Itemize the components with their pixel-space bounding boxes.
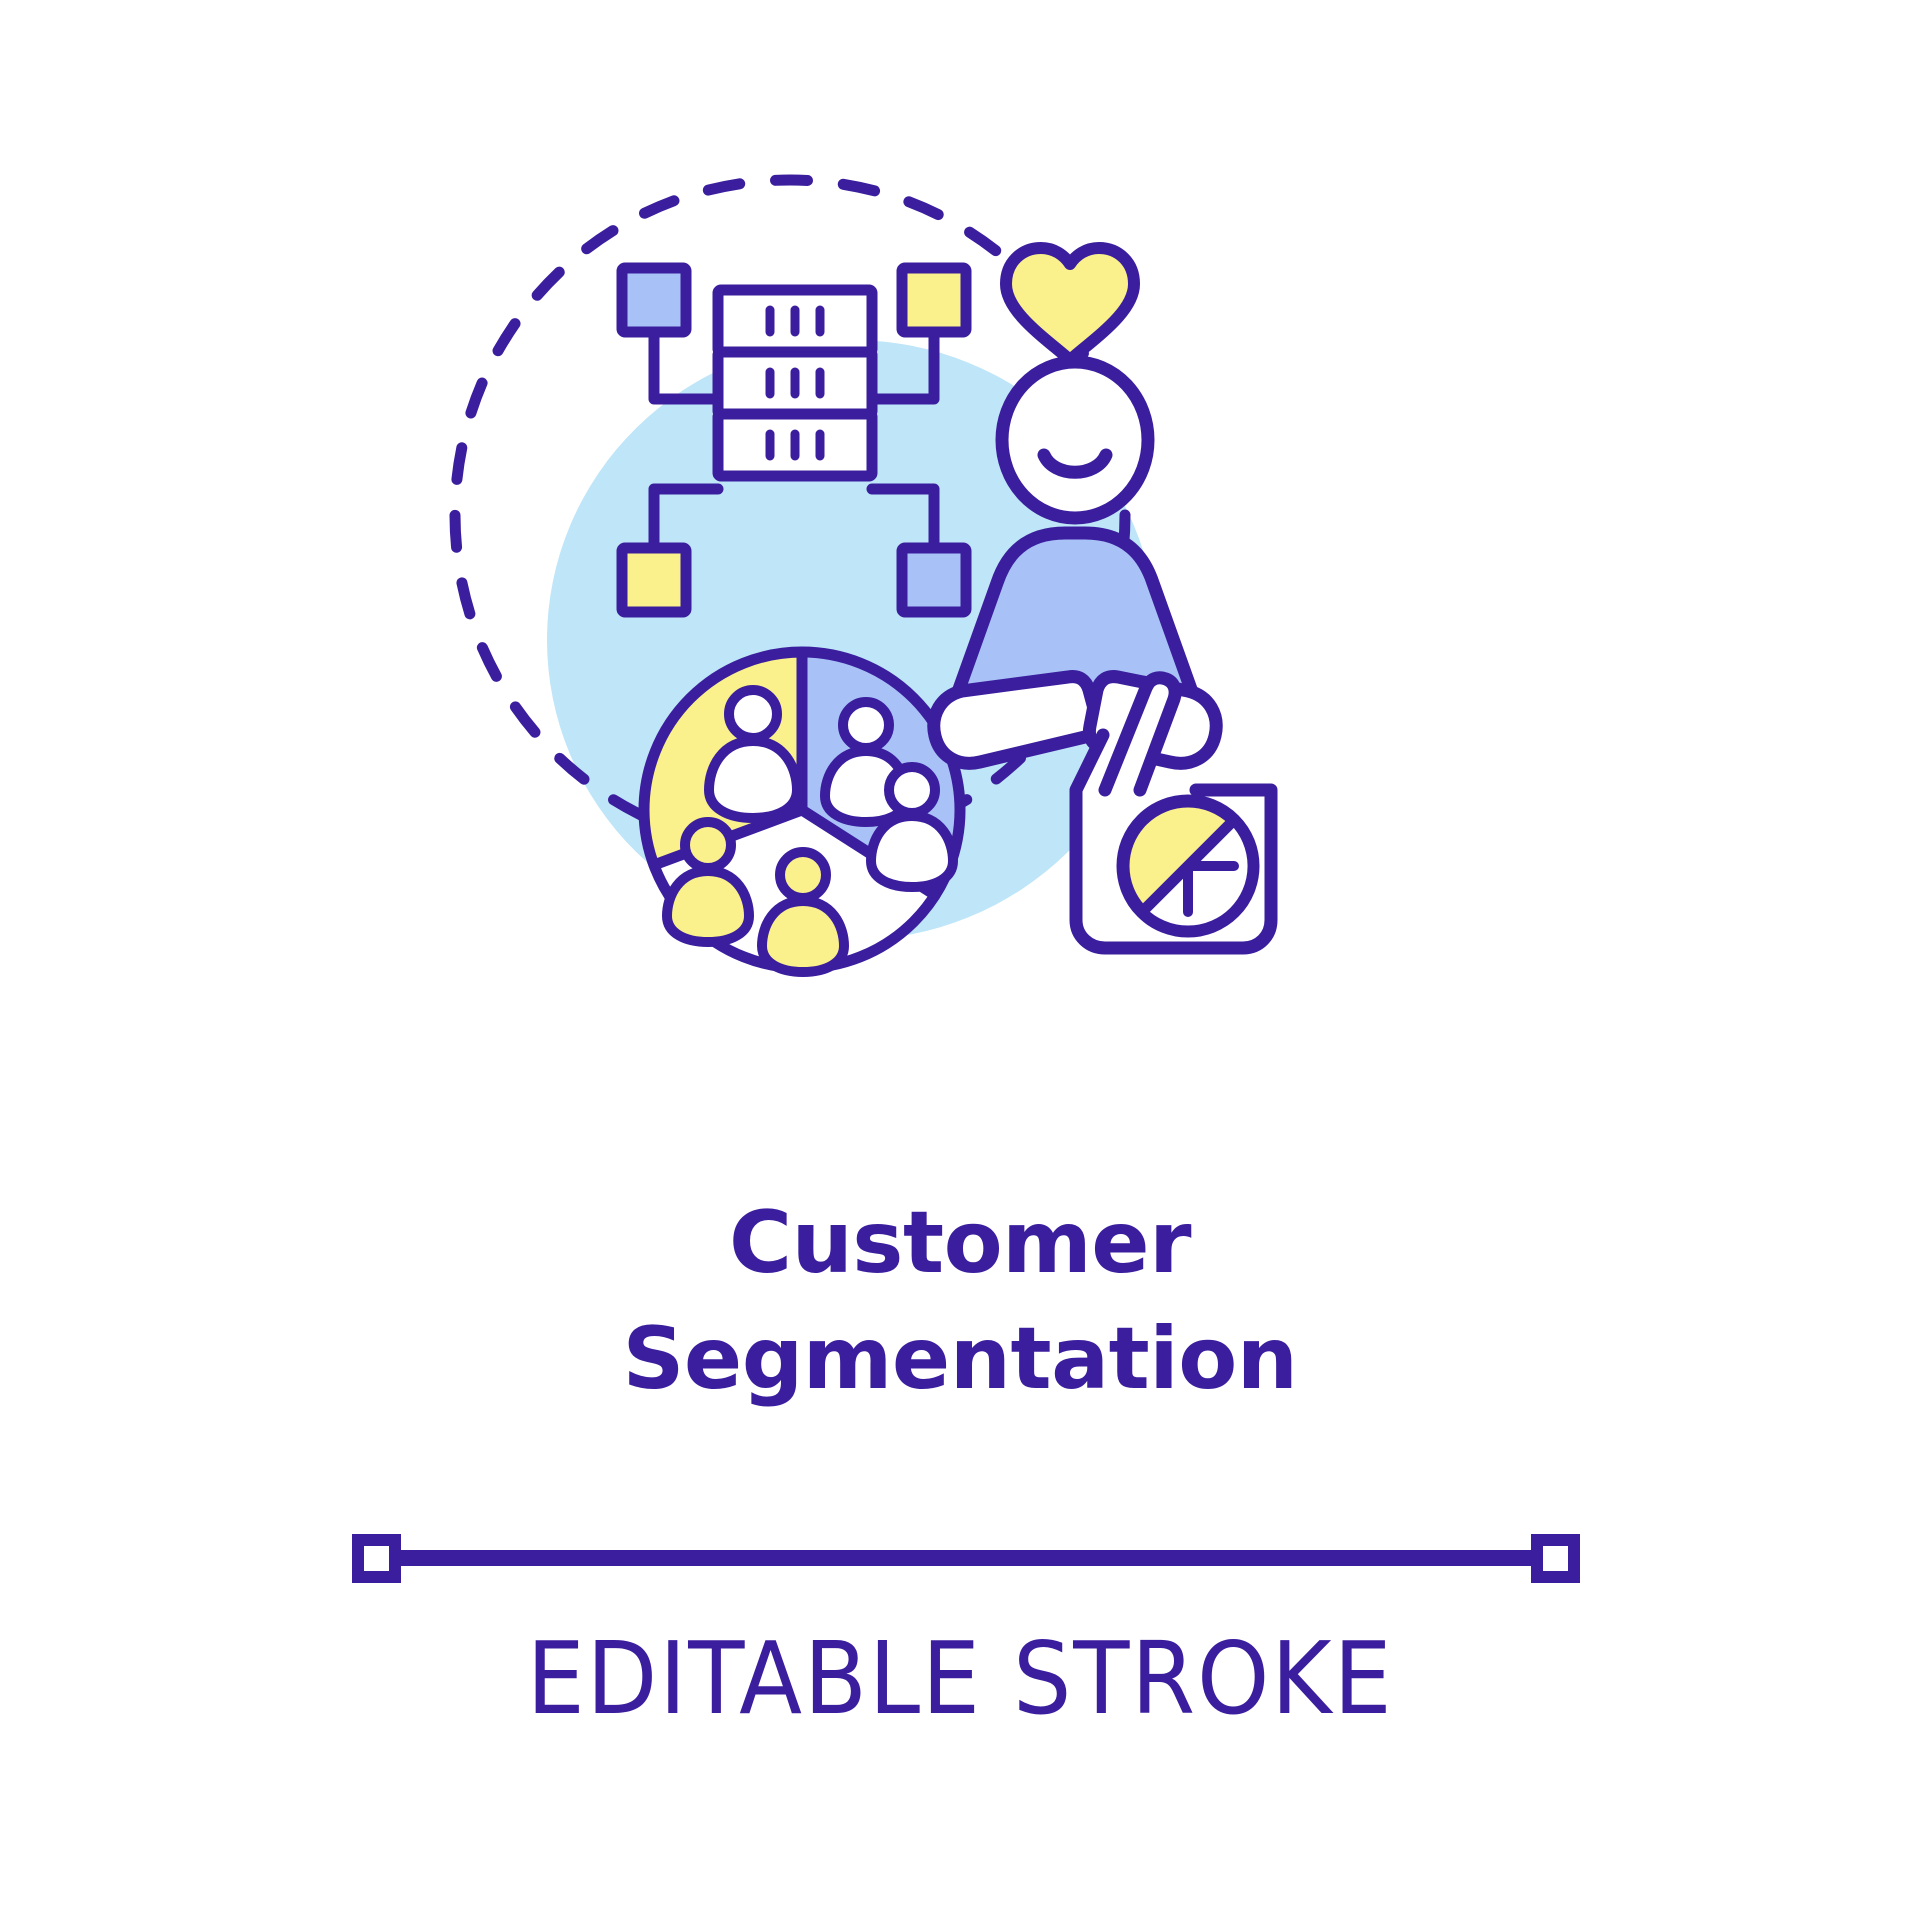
square-handle-right-icon[interactable] (1537, 1540, 1574, 1577)
title-line-2: Segmentation (0, 1301, 1920, 1417)
title-line-1: Customer (0, 1185, 1920, 1301)
square-handle-left-icon[interactable] (358, 1540, 395, 1577)
heart-icon (1006, 248, 1134, 360)
segmentation-pie-chart (644, 652, 960, 972)
node-top-left-icon (622, 268, 686, 332)
node-bottom-right-icon (902, 548, 966, 612)
node-top-right-icon (902, 268, 966, 332)
page-root: Customer Segmentation EDITABLE STROKE (0, 0, 1920, 1920)
concept-title: Customer Segmentation (0, 1185, 1920, 1417)
editable-stroke-label: EDITABLE STROKE (77, 1620, 1843, 1737)
server-rack-icon (718, 290, 872, 476)
node-bottom-left-icon (622, 548, 686, 612)
concept-illustration (0, 0, 1920, 1100)
editable-stroke-footer: EDITABLE STROKE (0, 1500, 1920, 1737)
stroke-width-bar (0, 1500, 1920, 1620)
